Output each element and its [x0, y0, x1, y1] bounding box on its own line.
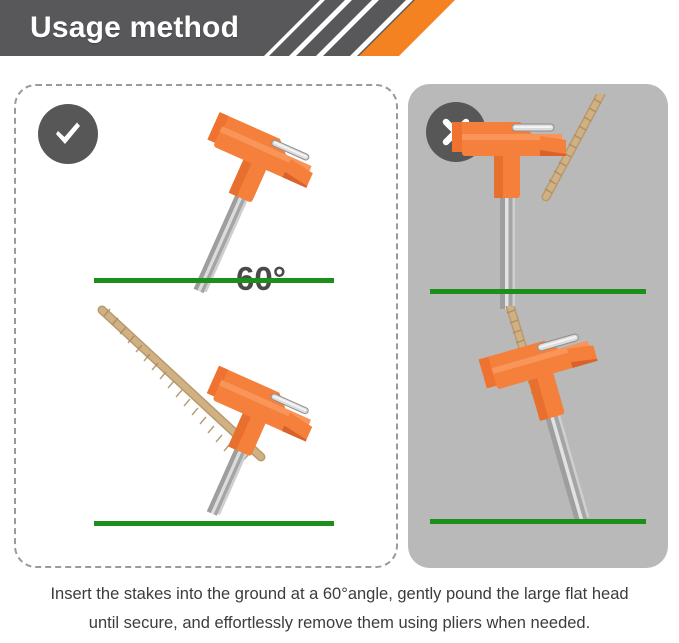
caption-line-2: until secure, and effortlessly remove th…: [10, 609, 669, 638]
check-icon: [48, 114, 88, 154]
ground-line-bottom-left: [94, 519, 334, 529]
stake-head: [191, 366, 320, 475]
ground-line-top-left: [94, 276, 334, 286]
stake-vertical-wrong-illustration: [438, 94, 658, 309]
stake-head: [479, 328, 610, 432]
correct-usage-panel: 60°: [14, 84, 398, 568]
stake-shaft: [545, 411, 590, 523]
header-banner: Usage method: [0, 0, 679, 56]
stake-head: [191, 112, 320, 221]
stake-clip: [512, 124, 554, 131]
stake-leaning-wrong-illustration: [428, 306, 658, 526]
comparison-area: 60°: [0, 66, 679, 574]
page-title: Usage method: [30, 8, 239, 48]
incorrect-usage-panel: [408, 84, 668, 568]
caption: Insert the stakes into the ground at a 6…: [10, 580, 669, 638]
caption-line-1: Insert the stakes into the ground at a 6…: [10, 580, 669, 609]
ground-line-top-right: [430, 287, 646, 297]
ground-line-bottom-right: [430, 517, 646, 527]
stake-angled-rope-illustration: [76, 304, 386, 524]
